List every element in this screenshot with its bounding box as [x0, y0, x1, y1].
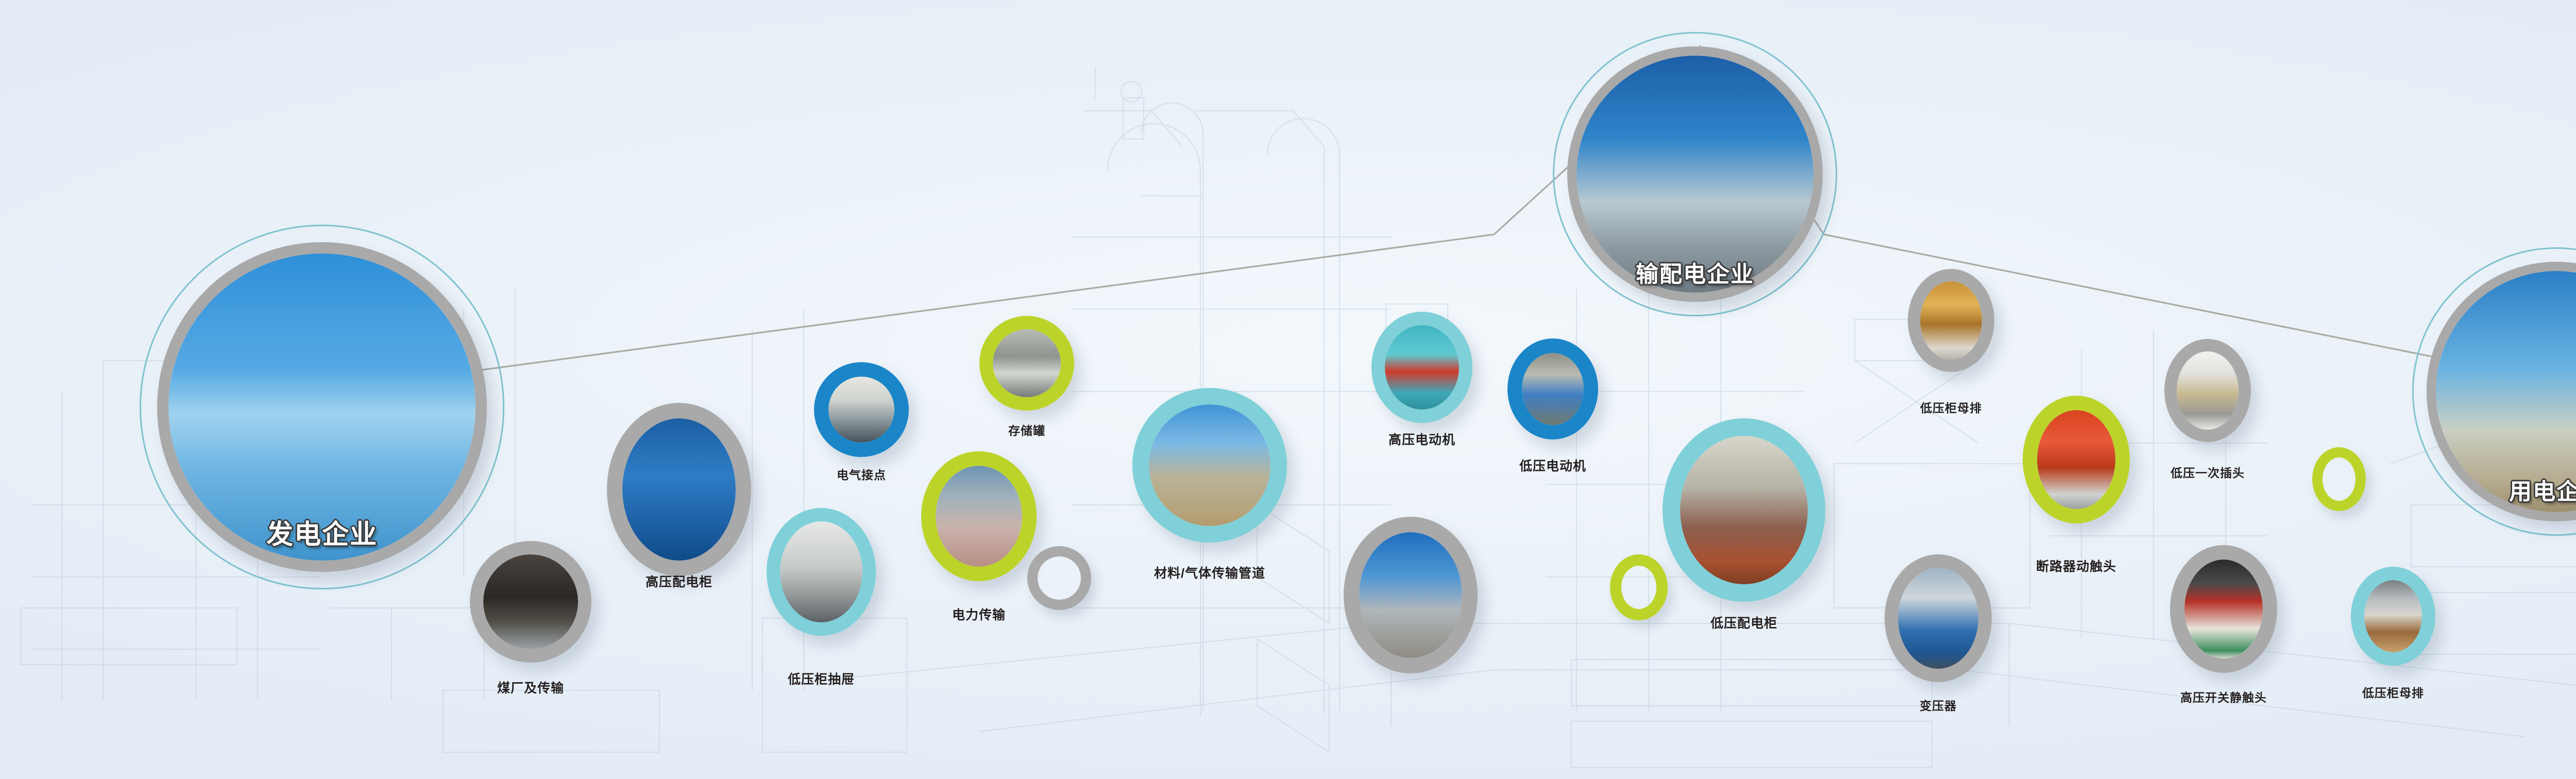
node-ring-storage-tank	[979, 316, 1074, 411]
node-ring-transformer	[1885, 554, 1992, 682]
node-label-transformer: 变压器	[1920, 696, 1957, 714]
decorative-hollow-ring-lime-mid	[1610, 554, 1668, 620]
infographic-canvas: 发电企业输配电企业用电企业 煤厂及传输高压配电柜电气接点存储罐低压柜抽屉电力传输…	[0, 0, 2576, 779]
node-label-lv-cabinet-busbar-upper: 低压柜母排	[1920, 398, 1982, 416]
node-label-lv-primary-plug: 低压一次插头	[2171, 463, 2245, 481]
hub-ring-power-generation	[157, 242, 487, 572]
node-ring-hv-switch-static-contact	[2170, 545, 2277, 673]
node-ring-coal-plant-transport	[470, 541, 591, 663]
node-ring-hv-motor	[1371, 312, 1472, 423]
node-label-hv-motor: 高压电动机	[1388, 430, 1455, 448]
decorative-hollow-ring-gray-left	[1027, 546, 1091, 610]
hub-ring-transmission-distribution	[1567, 46, 1823, 302]
node-label-hv-distribution-cabinet: 高压配电柜	[646, 572, 713, 590]
node-label-breaker-moving-contact: 断路器动触头	[2036, 556, 2116, 575]
node-ring-lv-cabinet-drawer	[767, 508, 876, 636]
node-ring-hv-distribution-cabinet	[607, 403, 751, 576]
node-label-storage-tank: 存储罐	[1008, 421, 1045, 438]
node-label-lv-cabinet-busbar-lower: 低压柜母排	[2362, 683, 2424, 701]
node-label-lv-cabinet-drawer: 低压柜抽屉	[788, 669, 855, 688]
node-label-power-transmission: 电力传输	[952, 605, 1006, 623]
node-label-electrical-contact: 电气接点	[837, 465, 886, 483]
node-ring-power-transmission	[921, 451, 1037, 581]
node-ring-lv-distribution-cabinet	[1663, 418, 1825, 602]
node-ring-electrical-contact	[814, 362, 909, 457]
node-ring-breaker-moving-contact	[2023, 396, 2130, 523]
node-label-lv-motor: 低压电动机	[1519, 456, 1586, 475]
node-ring-chemical-plant-stack	[1344, 517, 1478, 673]
node-ring-lv-cabinet-busbar-lower	[2351, 567, 2435, 666]
decorative-hollow-ring-lime-right	[2312, 447, 2366, 511]
node-ring-lv-motor	[1507, 338, 1598, 439]
node-label-lv-distribution-cabinet: 低压配电柜	[1710, 613, 1777, 632]
node-label-coal-plant-transport: 煤厂及传输	[497, 678, 564, 697]
node-label-hv-switch-static-contact: 高压开关静触头	[2180, 688, 2267, 705]
node-label-material-gas-pipeline: 材料/气体传输管道	[1154, 563, 1265, 582]
node-ring-lv-primary-plug	[2164, 339, 2251, 442]
node-ring-lv-cabinet-busbar-upper	[1908, 269, 1994, 372]
node-ring-material-gas-pipeline	[1132, 388, 1287, 543]
